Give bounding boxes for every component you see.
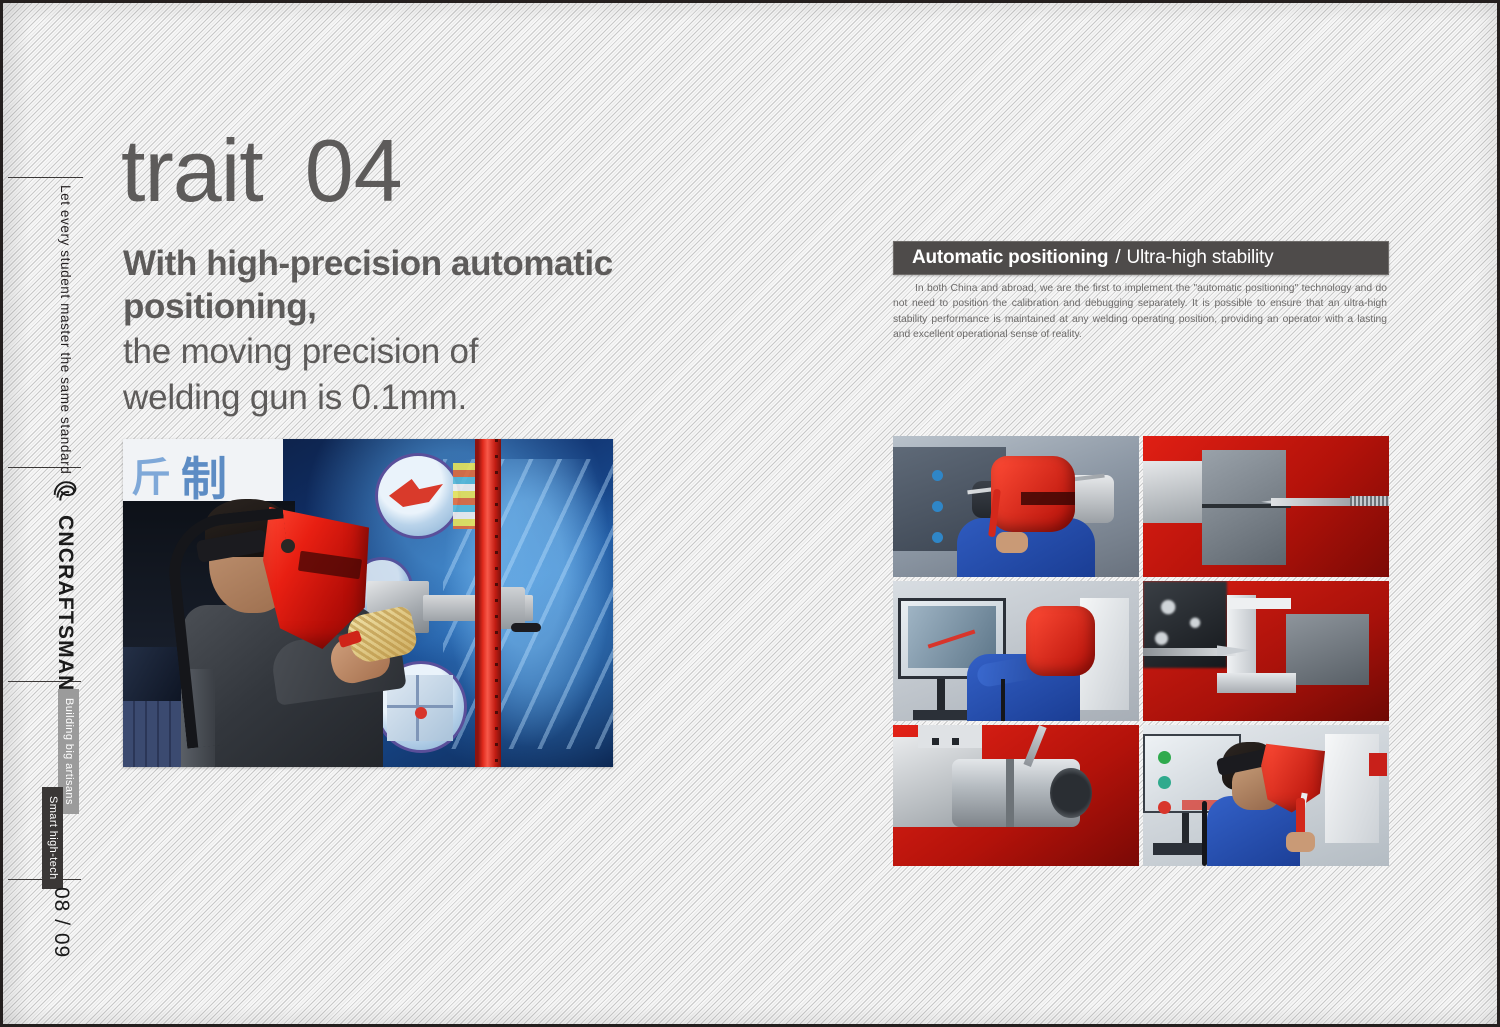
hero-welding-hose: [163, 507, 306, 748]
badge-smart-high-tech: Smart high-tech: [42, 787, 63, 889]
gallery-photo-4: [1143, 581, 1389, 722]
g2-torch-cable: [1350, 496, 1389, 506]
headline-light-line-1: the moving precision of: [123, 330, 683, 374]
gallery-photo-6: [1143, 725, 1389, 866]
g1-status-icon-2: [932, 501, 943, 512]
g3-red-welding-helmet: [1026, 606, 1095, 676]
g5-pipe-weld-ring: [1006, 759, 1014, 827]
section-title-bold: Automatic positioning: [912, 247, 1108, 269]
right-column: Automatic positioning / Ultra-high stabi…: [893, 241, 1389, 353]
section-title-light: Ultra-high stability: [1126, 247, 1273, 269]
g3-cable: [1001, 679, 1005, 721]
g6-white-fixture: [1325, 734, 1379, 844]
photo-gallery: [893, 436, 1389, 866]
kicker-word: trait: [121, 121, 263, 220]
g5-bolt-1: [932, 738, 939, 745]
brand-name: CNCRAFTSMAN: [53, 515, 77, 692]
headline-light-line-2: welding gun is 0.1mm.: [123, 376, 683, 420]
g1-hand: [996, 532, 1028, 553]
sidebar-tagline: Let every student master the same standa…: [58, 185, 73, 474]
g6-monitor-stand: [1182, 813, 1189, 847]
hero-banner-glyph-2: 制: [181, 443, 227, 509]
hero-banner-glyph-1: 斤: [131, 445, 171, 503]
hero-column-ticks: [495, 439, 498, 767]
g5-pipe-opening: [1050, 768, 1092, 819]
g3-monitor-stand: [937, 679, 945, 713]
hero-knob: [511, 623, 541, 632]
hero-photo: 斤 制: [123, 439, 613, 767]
g2-butt-joint-plate: [1202, 450, 1286, 565]
hero-circle-dot: [415, 707, 427, 719]
g4-grey-block: [1286, 614, 1370, 684]
g6-stop-status-icon: [1158, 801, 1171, 814]
g1-status-icon-3: [932, 532, 943, 543]
g4-t-joint-flange: [1217, 673, 1296, 693]
section-body-text: In both China and abroad, we are the fir…: [893, 281, 1387, 343]
g6-welding-gun: [1296, 798, 1305, 835]
gallery-photo-5: [893, 725, 1139, 866]
gallery-photo-3: [893, 581, 1139, 722]
g6-play-status-icon: [1158, 751, 1171, 764]
g1-helmet-visor: [1021, 492, 1075, 505]
g5-fixture-cap: [918, 725, 982, 748]
gallery-photo-2: [1143, 436, 1389, 577]
swirl-logo-icon: [50, 477, 80, 507]
section-header-bar: Automatic positioning / Ultra-high stabi…: [893, 241, 1389, 275]
g4-t-joint-cap: [1227, 598, 1291, 609]
section-title-separator: /: [1115, 247, 1120, 269]
headline-bold-line-1: With high-precision automatic: [123, 243, 683, 286]
page-number: 08 / 09: [49, 887, 73, 958]
hero-monitor: [123, 647, 181, 701]
g5-bolt-2: [952, 738, 959, 745]
g6-hand: [1286, 832, 1316, 852]
page-kicker: trait04: [121, 127, 403, 215]
g6-reset-status-icon: [1158, 776, 1171, 789]
kicker-number: 04: [305, 121, 403, 220]
gallery-photo-1: [893, 436, 1139, 577]
g6-cable: [1202, 801, 1207, 866]
sidebar-divider-top: [8, 177, 83, 178]
headline-bold-line-2: positioning,: [123, 286, 683, 329]
left-sidebar: Let every student master the same standa…: [3, 3, 108, 1024]
brochure-page: Let every student master the same standa…: [0, 0, 1500, 1027]
page-title: With high-precision automatic positionin…: [123, 243, 683, 420]
g6-red-marking: [1369, 753, 1386, 776]
